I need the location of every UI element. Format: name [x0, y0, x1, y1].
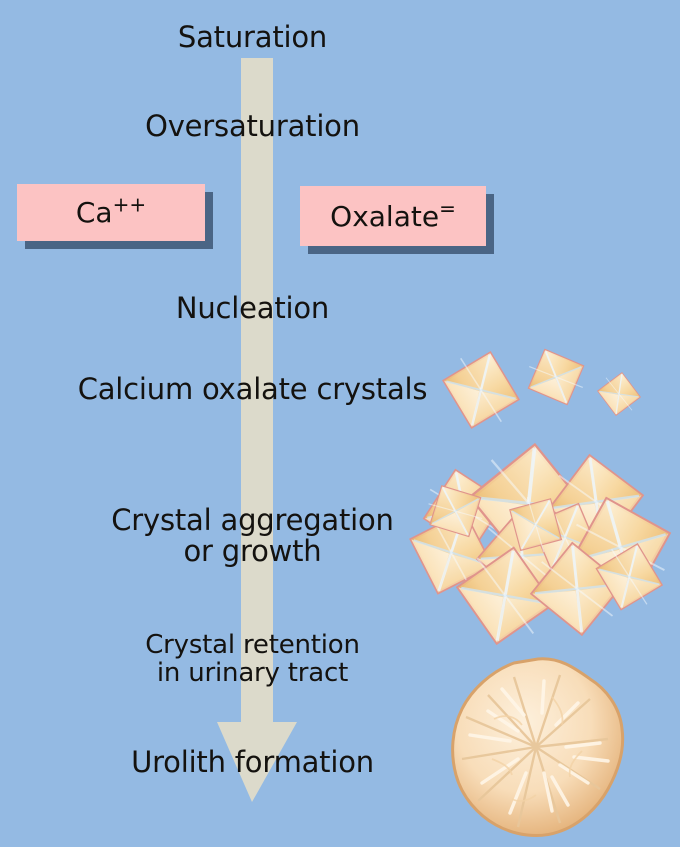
crystal-icon — [443, 352, 519, 428]
urolith-stone-icon — [448, 655, 628, 840]
ion-label-oxalate: Oxalate= — [330, 200, 456, 233]
ion-charge-oxalate: = — [439, 196, 456, 220]
ion-label-calcium: Ca++ — [76, 196, 146, 229]
ion-box-oxalate: Oxalate= — [300, 186, 486, 246]
ion-name-calcium: Ca — [76, 196, 113, 229]
ion-name-oxalate: Oxalate — [330, 200, 439, 233]
stage-label-urolith-formation: Urolith formation — [0, 747, 505, 778]
crystal-cluster — [410, 440, 670, 620]
ion-charge-calcium: ++ — [113, 193, 147, 217]
stage-label-calcium-oxalate-crystals: Calcium oxalate crystals — [0, 374, 505, 405]
ion-box-calcium: Ca++ — [17, 184, 205, 241]
stage-label-nucleation: Nucleation — [0, 293, 505, 324]
stage-label-saturation: Saturation — [0, 22, 505, 53]
stage-label-oversaturation: Oversaturation — [0, 111, 505, 142]
figure-canvas: Saturation Oversaturation Nucleation Cal… — [0, 0, 680, 847]
stage-label-crystal-retention: Crystal retention in urinary tract — [0, 631, 505, 687]
crystal-icon — [527, 348, 585, 406]
crystal-icon — [598, 373, 640, 415]
